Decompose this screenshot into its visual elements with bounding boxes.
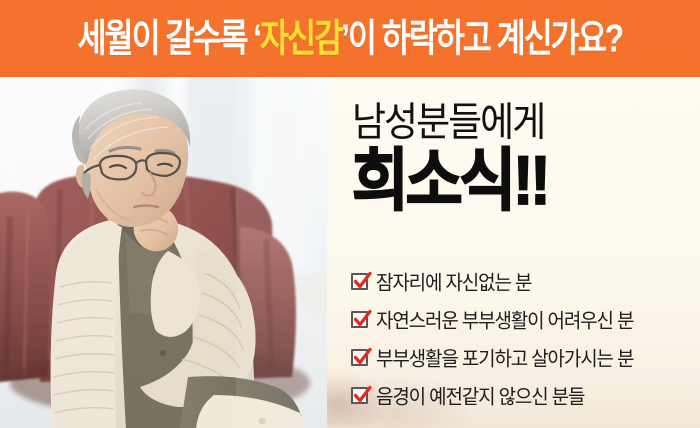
hero-photo-illustration bbox=[0, 77, 327, 428]
headline-line-2: 희소식!! bbox=[352, 147, 547, 217]
header-banner: 세월이 갈수록 ‘자신감’이 하락하고 계신가요? bbox=[0, 0, 700, 77]
checkbox-checked-icon bbox=[351, 311, 368, 328]
check-mark-glyph bbox=[352, 385, 373, 406]
advertisement-banner: 세월이 갈수록 ‘자신감’이 하락하고 계신가요? bbox=[0, 0, 700, 428]
list-item-label: 자연스러운 부부생활이 어려우신 분 bbox=[376, 305, 633, 334]
checkbox-checked-icon bbox=[351, 349, 368, 366]
checkbox-checked-icon bbox=[351, 273, 368, 290]
list-item-label: 음경이 예전같지 않으신 분들 bbox=[376, 381, 584, 410]
hero-photo bbox=[0, 77, 327, 428]
check-mark-glyph bbox=[352, 271, 373, 292]
list-item-label: 잠자리에 자신없는 분 bbox=[376, 267, 531, 296]
content-panel: 남성분들에게 희소식!! 잠자리에 자신없는 분 자연스러운 부부생활이 어 bbox=[327, 77, 700, 428]
header-highlight-word: 자신감 bbox=[260, 17, 341, 60]
header-banner-text-wrap: 세월이 갈수록 ‘자신감’이 하락하고 계신가요? bbox=[0, 0, 700, 77]
header-text-after: 이 하락하고 계신가요? bbox=[348, 17, 622, 60]
check-mark-glyph bbox=[352, 347, 373, 368]
headline-line-1: 남성분들에게 bbox=[352, 101, 547, 143]
header-text-before: 세월이 갈수록 bbox=[78, 17, 254, 60]
list-item: 부부생활을 포기하고 살아가시는 분 bbox=[351, 338, 696, 376]
list-item: 잠자리에 자신없는 분 bbox=[351, 262, 696, 300]
list-item: 음경이 예전같지 않으신 분들 bbox=[351, 376, 696, 414]
benefit-list: 잠자리에 자신없는 분 자연스러운 부부생활이 어려우신 분 부부생활을 포기하… bbox=[351, 262, 696, 414]
checkbox-checked-icon bbox=[351, 387, 368, 404]
check-mark-glyph bbox=[352, 309, 373, 330]
headline-block: 남성분들에게 희소식!! bbox=[352, 101, 547, 210]
list-item: 자연스러운 부부생활이 어려우신 분 bbox=[351, 300, 696, 338]
header-banner-text: 세월이 갈수록 ‘자신감’이 하락하고 계신가요? bbox=[78, 19, 623, 58]
list-item-label: 부부생활을 포기하고 살아가시는 분 bbox=[376, 343, 633, 372]
